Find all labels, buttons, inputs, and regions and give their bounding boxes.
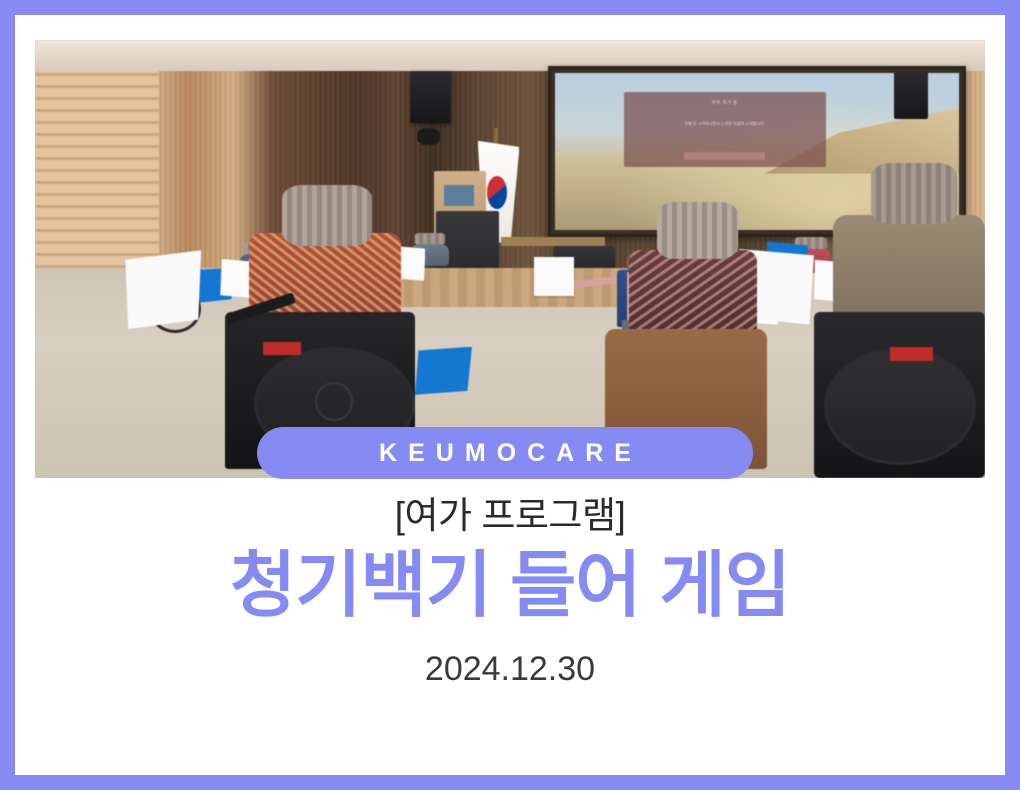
instructor-white-flag — [534, 257, 574, 296]
wheelchair-c-wheel — [824, 347, 976, 465]
slide-logo — [684, 152, 765, 160]
activity-date: 2024.12.30 — [15, 650, 1005, 689]
korean-flag-taegeuk — [487, 176, 507, 209]
photo-scene: 목욕 하기 등 진행 후 시작하시면서 느끼면 직접적 시작합니다. — [35, 40, 985, 478]
foreground-blue-flag-a — [415, 347, 472, 395]
wall-speaker-left — [410, 71, 450, 124]
program-category: [여가 프로그램] — [15, 495, 1005, 538]
wheelchair-a-brand-label — [263, 342, 301, 355]
foreground-participant-c-head — [871, 163, 957, 224]
foreground-white-flag-left — [125, 250, 201, 329]
wheelchair-a-hub — [315, 382, 353, 421]
spotlight — [417, 128, 440, 146]
brand-badge: KEUMOCARE — [257, 427, 753, 479]
card-frame: 목욕 하기 등 진행 후 시작하시면서 느끼면 직접적 시작합니다. — [0, 0, 1020, 790]
slide-text-panel: 목욕 하기 등 진행 후 시작하시면서 느끼면 직접적 시작합니다. — [624, 92, 826, 167]
slide-body: 진행 후 시작하시면서 느끼면 직접적 시작합니다. — [624, 121, 826, 128]
foreground-participant-a-head — [282, 185, 372, 246]
wall-speaker-right — [894, 71, 928, 119]
card-inner: 목욕 하기 등 진행 후 시작하시면서 느끼면 직접적 시작합니다. — [15, 15, 1005, 775]
side-table — [501, 237, 606, 246]
page-title: 청기백기 들어 게임 — [15, 546, 1005, 627]
caption-block: [여가 프로그램] 청기백기 들어 게임 2024.12.30 — [15, 495, 1005, 689]
wheelchair-c-brand-label — [890, 347, 933, 361]
slide-heading: 목욕 하기 등 — [624, 100, 826, 106]
foreground-participant-b-head — [657, 202, 738, 259]
activity-photo: 목욕 하기 등 진행 후 시작하시면서 느끼면 직접적 시작합니다. — [35, 40, 985, 478]
podium-monitor — [444, 185, 474, 207]
